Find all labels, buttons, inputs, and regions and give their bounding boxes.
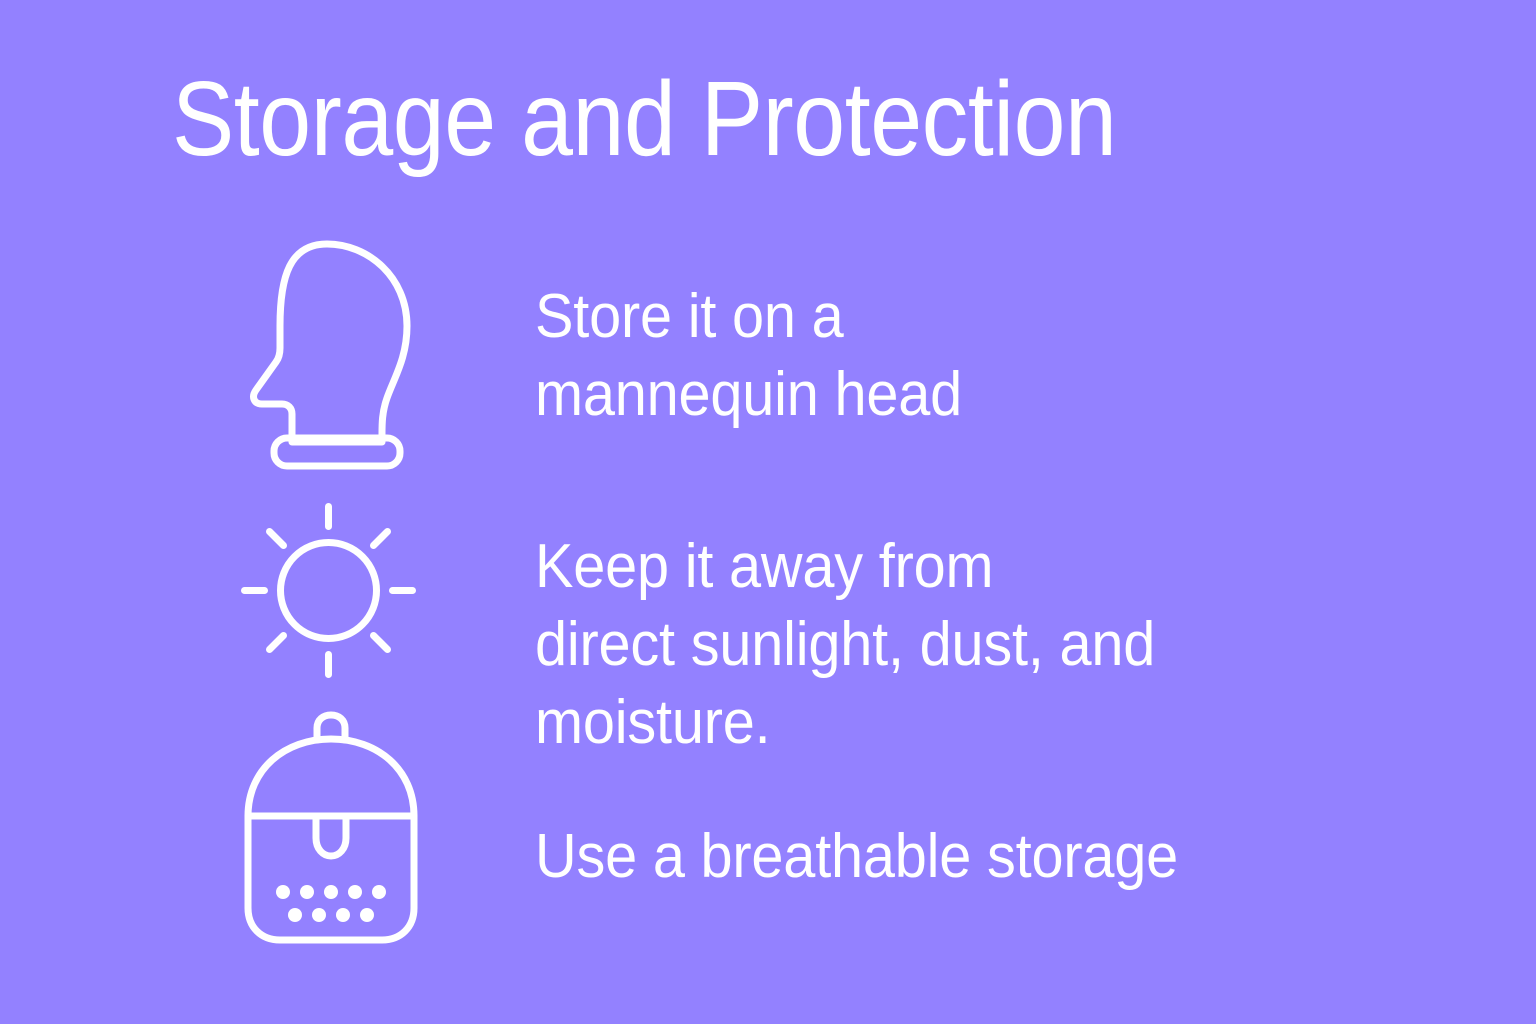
- slide-canvas: Storage and Protection Store it on a man…: [0, 0, 1536, 1024]
- list-item-text: Use a breathable storage: [535, 818, 1521, 896]
- list-item-line: Keep it away from: [535, 528, 1521, 606]
- sun-icon: [236, 503, 421, 678]
- list-item-line: Use a breathable storage: [535, 818, 1521, 896]
- mannequin-head-icon: [232, 238, 422, 473]
- list-item-text: Keep it away from direct sunlight, dust,…: [535, 528, 1521, 762]
- page-title: Storage and Protection: [172, 62, 1246, 176]
- list-item-line: direct sunlight, dust, and: [535, 606, 1521, 684]
- backpack-storage-bag-icon: [236, 712, 426, 952]
- list-item-line: mannequin head: [535, 356, 1521, 434]
- list-item-line: moisture.: [535, 684, 1521, 762]
- list-item-line: Store it on a: [535, 278, 1521, 356]
- list-item-text: Store it on a mannequin head: [535, 278, 1521, 434]
